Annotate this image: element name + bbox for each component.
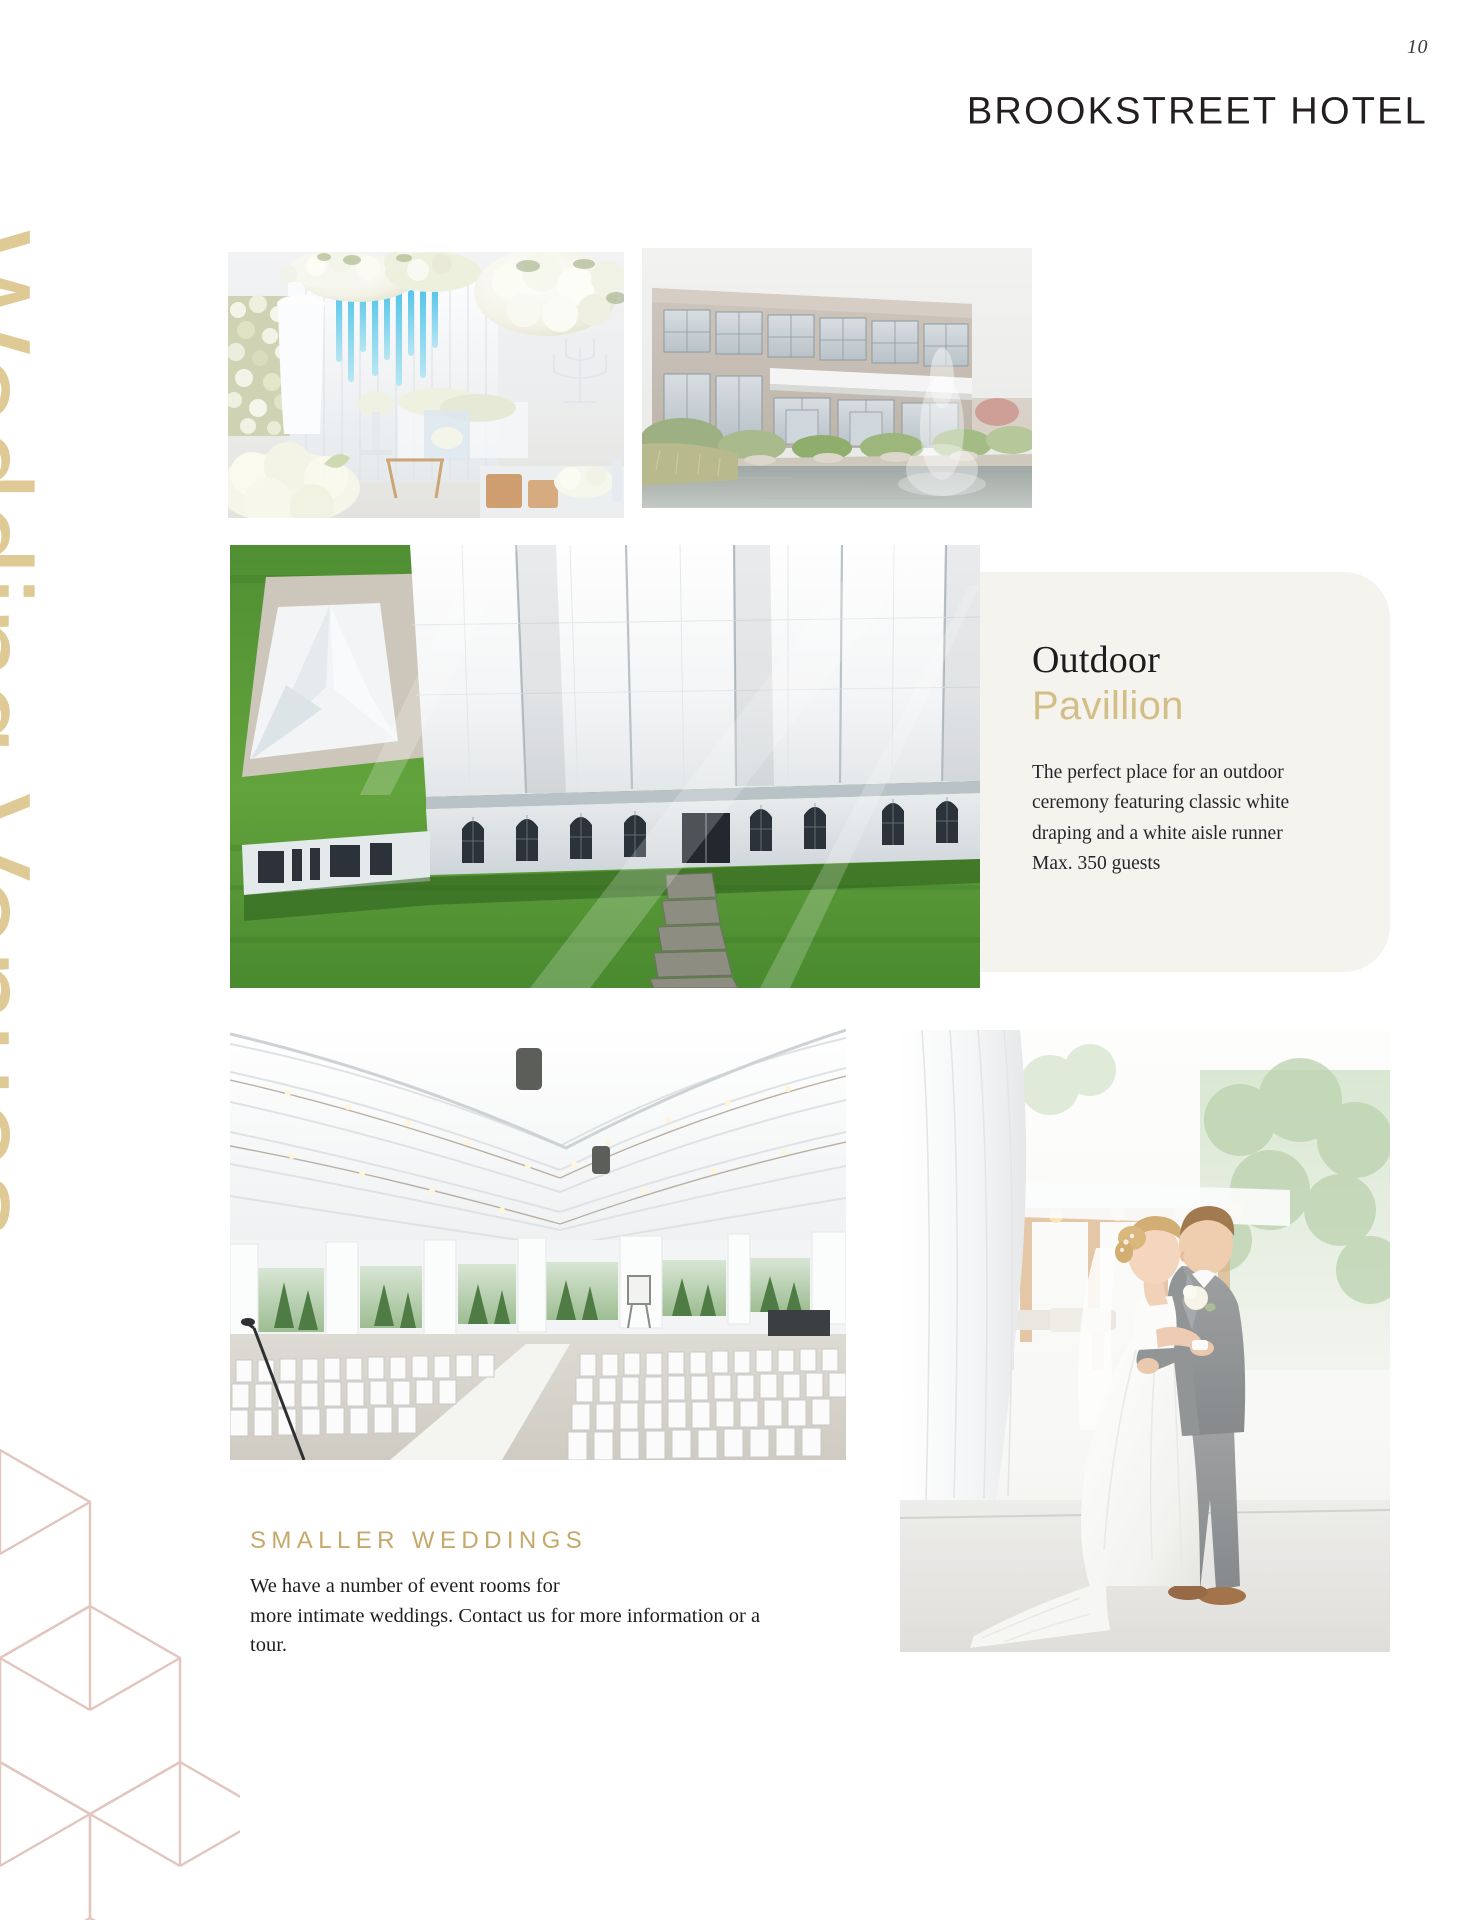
smaller-weddings-line: tour. [250, 1631, 890, 1661]
card-body-line: Max. 350 guests [1032, 849, 1338, 879]
smaller-weddings-body: We have a number of event rooms for more… [250, 1572, 890, 1661]
smaller-weddings-line: We have a number of event rooms for [250, 1572, 890, 1602]
photo-outdoor-pavilion-aerial [230, 545, 980, 988]
card-title-outdoor: Outdoor [1032, 640, 1338, 680]
page-title: BROOKSTREET HOTEL [967, 91, 1428, 134]
photo-bride-and-groom [900, 1030, 1390, 1652]
card-body-line: ceremony featuring classic white [1032, 788, 1338, 818]
card-body-line: draping and a white aisle runner [1032, 819, 1338, 849]
card-body: The perfect place for an outdoor ceremon… [1032, 758, 1338, 879]
card-title-pavillion: Pavillion [1032, 684, 1338, 728]
photo-wedding-reception-decor [228, 252, 624, 518]
card-body-line: The perfect place for an outdoor [1032, 758, 1338, 788]
photo-hotel-exterior-pond [642, 248, 1032, 508]
smaller-weddings-heading: SMALLER WEDDINGS [250, 1527, 587, 1555]
side-title: Wedding Venues [0, 230, 50, 1240]
photo-tent-interior-ceremony [230, 1028, 846, 1460]
smaller-weddings-line: more intimate weddings. Contact us for m… [250, 1602, 890, 1632]
outdoor-pavilion-info-card: Outdoor Pavillion The perfect place for … [980, 572, 1390, 972]
page-number: 10 [1407, 36, 1428, 59]
hexagon-lattice-decoration [0, 1440, 240, 1920]
